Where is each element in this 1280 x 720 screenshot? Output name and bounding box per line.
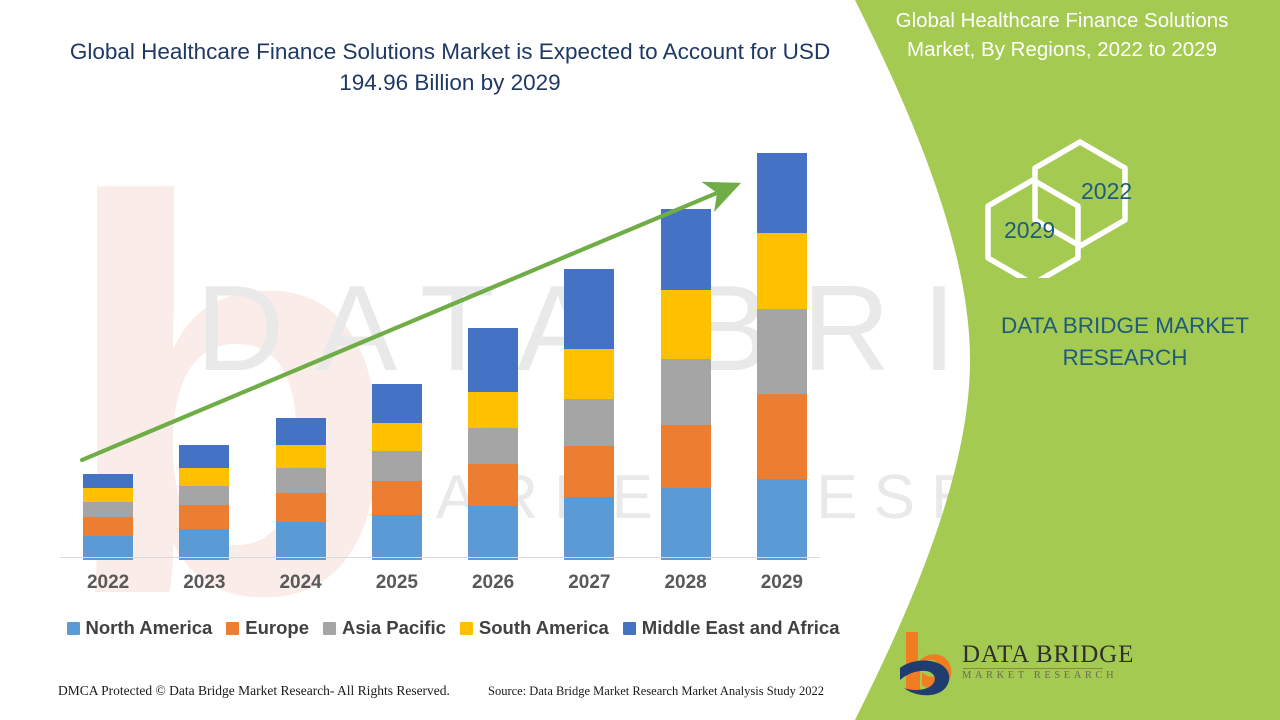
legend-label: South America [479, 617, 609, 639]
x-axis-label-2023: 2023 [169, 572, 239, 594]
company-name: DATA BRIDGE MARKET RESEARCH [980, 310, 1270, 374]
bar-segment [757, 309, 807, 393]
legend-swatch-icon [623, 622, 636, 635]
legend-item[interactable]: Middle East and Africa [623, 617, 840, 639]
x-axis-label-2025: 2025 [362, 572, 432, 594]
bar-segment [372, 451, 422, 481]
logo-sub-text: MARKET RESEARCH [962, 669, 1134, 683]
chart-subtitle: Global Healthcare Finance Solutions Mark… [862, 6, 1262, 64]
bar-2027[interactable] [564, 269, 614, 560]
bar-segment [179, 486, 229, 505]
x-axis-label-2024: 2024 [266, 572, 336, 594]
bar-segment [564, 269, 614, 349]
infographic-canvas: b DATA BRIDGE MARKET RESEARCH Global Hea… [0, 0, 1280, 720]
legend-label: Middle East and Africa [642, 617, 840, 639]
bar-segment [83, 502, 133, 517]
source-notice: Source: Data Bridge Market Research Mark… [488, 684, 824, 699]
bar-segment [661, 209, 711, 290]
bar-segment [757, 233, 807, 310]
bar-2024[interactable] [276, 418, 326, 560]
x-axis-label-2029: 2029 [747, 572, 817, 594]
chart-legend: North AmericaEuropeAsia PacificSouth Ame… [58, 614, 848, 642]
legend-swatch-icon [323, 622, 336, 635]
bar-2022[interactable] [83, 474, 133, 560]
bar-segment [468, 328, 518, 391]
hexagon-label-2029: 2029 [1004, 217, 1055, 244]
legend-item[interactable]: Asia Pacific [323, 617, 446, 639]
bar-segment [179, 505, 229, 529]
bar-segment [179, 529, 229, 560]
bar-segment [276, 493, 326, 522]
hexagon-badges: 2029 2022 [985, 138, 1175, 278]
legend-item[interactable]: South America [460, 617, 609, 639]
legend-label: Europe [245, 617, 309, 639]
bar-2029[interactable] [757, 153, 807, 560]
bar-2025[interactable] [372, 384, 422, 560]
x-axis-labels: 20222023202420252026202720282029 [60, 572, 830, 602]
bar-segment [757, 153, 807, 233]
logo-main-text: DATA BRIDGE [962, 641, 1134, 669]
bar-segment [661, 488, 711, 560]
legend-label: North America [86, 617, 213, 639]
bar-segment [468, 464, 518, 506]
bar-2026[interactable] [468, 328, 518, 560]
stacked-bar-chart [60, 150, 830, 560]
legend-swatch-icon [226, 622, 239, 635]
copyright-notice: DMCA Protected © Data Bridge Market Rese… [58, 683, 450, 699]
hexagon-icon [985, 138, 1175, 278]
x-axis-label-2027: 2027 [554, 572, 624, 594]
legend-swatch-icon [460, 622, 473, 635]
bar-segment [661, 290, 711, 359]
bar-segment [372, 481, 422, 515]
bar-segment [179, 445, 229, 467]
bar-segment [468, 506, 518, 560]
legend-label: Asia Pacific [342, 617, 446, 639]
bar-segment [661, 425, 711, 488]
bar-segment [661, 359, 711, 425]
bar-segment [468, 428, 518, 464]
bar-segment [179, 468, 229, 487]
x-axis-label-2022: 2022 [73, 572, 143, 594]
bar-segment [757, 394, 807, 479]
x-axis-line [60, 557, 820, 558]
x-axis-label-2028: 2028 [651, 572, 721, 594]
bar-segment [83, 474, 133, 488]
bar-segment [276, 468, 326, 493]
legend-item[interactable]: Europe [226, 617, 309, 639]
bar-segment [564, 497, 614, 560]
legend-item[interactable]: North America [67, 617, 213, 639]
bar-segment [372, 423, 422, 451]
legend-swatch-icon [67, 622, 80, 635]
page-title: Global Healthcare Finance Solutions Mark… [50, 36, 850, 98]
logo-wordmark: DATA BRIDGE MARKET RESEARCH [962, 641, 1134, 683]
bar-segment [757, 479, 807, 560]
hexagon-label-2022: 2022 [1081, 178, 1132, 205]
bar-2023[interactable] [179, 445, 229, 560]
bar-segment [83, 488, 133, 502]
bar-segment [372, 384, 422, 423]
bar-segment [372, 515, 422, 560]
bar-segment [276, 445, 326, 468]
bar-segment [468, 392, 518, 429]
logo-divider [963, 668, 1103, 669]
bar-segment [564, 446, 614, 497]
bar-2028[interactable] [661, 209, 711, 560]
x-axis-label-2026: 2026 [458, 572, 528, 594]
bar-segment [83, 517, 133, 536]
bar-segment [564, 399, 614, 446]
bar-segment [564, 349, 614, 399]
bar-segment [276, 418, 326, 445]
bar-segment [276, 522, 326, 560]
